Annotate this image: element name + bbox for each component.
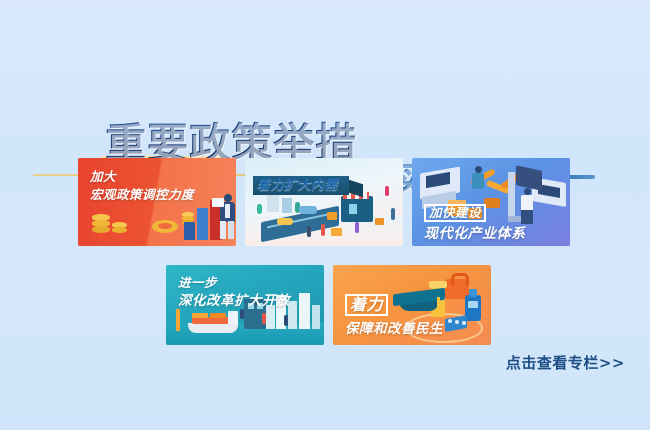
card5-label-main: 保障和改善民生 xyxy=(345,321,443,337)
card5-label: 着力 保障和改善民生 xyxy=(345,294,443,337)
card2-ribbon-tail xyxy=(349,180,363,198)
banner-title-group: 重要政策举措 及实施效果 xyxy=(0,58,650,143)
card4-label: 进一步 深化改革扩大开放 xyxy=(178,275,290,310)
banner-stage: 重要政策举措 及实施效果 xyxy=(0,0,650,430)
card4-label-top: 进一步 xyxy=(178,275,290,290)
card-deepen-reform-opening-up[interactable]: 进一步 深化改革扩大开放 xyxy=(166,265,324,345)
card5-label-top: 着力 xyxy=(345,294,388,316)
card3-label-main: 现代化产业体系 xyxy=(424,226,526,243)
card1-label: 加大 宏观政策调控力度 xyxy=(90,169,194,203)
card-expand-domestic-demand[interactable]: 着力扩大内需 xyxy=(245,158,403,246)
card2-label: 着力扩大内需 xyxy=(257,178,338,194)
card2-label-main: 着力扩大内需 xyxy=(257,178,338,194)
view-column-link[interactable]: 点击查看专栏>> xyxy=(506,352,625,373)
card4-label-main: 深化改革扩大开放 xyxy=(178,293,290,309)
card1-label-top: 加大 xyxy=(90,169,194,184)
card-modern-industrial-system[interactable]: 加快建设 现代化产业体系 xyxy=(412,158,570,246)
card1-label-main: 宏观政策调控力度 xyxy=(90,187,194,202)
card-macro-policy-regulation[interactable]: 加大 宏观政策调控力度 xyxy=(78,158,236,246)
card-improve-peoples-livelihood[interactable]: 着力 保障和改善民生 xyxy=(333,265,491,345)
card3-label: 加快建设 现代化产业体系 xyxy=(424,202,526,243)
card3-label-top: 加快建设 xyxy=(424,204,486,222)
illustration-isometric-city xyxy=(245,158,403,246)
